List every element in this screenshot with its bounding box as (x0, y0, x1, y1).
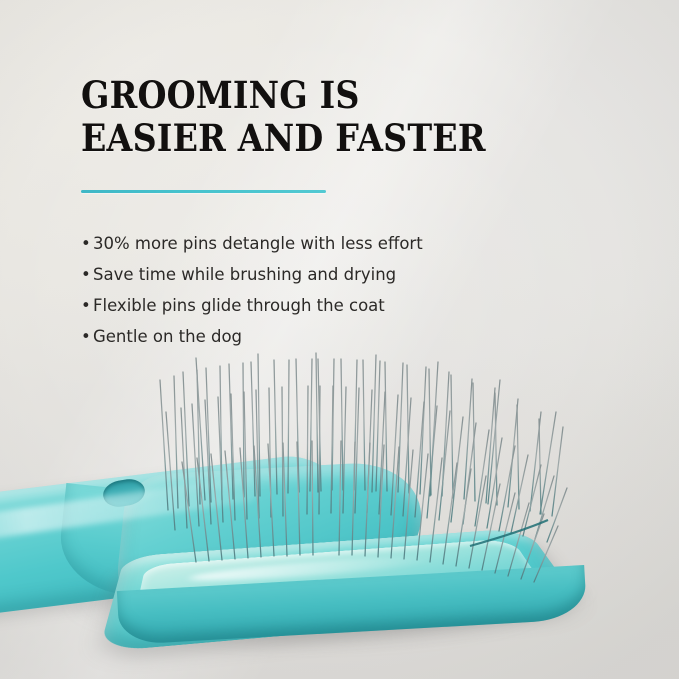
list-item: •Save time while brushing and drying (81, 259, 601, 290)
bullet-marker: • (81, 259, 93, 290)
headline-line-2: EASIER AND FASTER (81, 117, 549, 160)
product-feature-graphic: GROOMING IS EASIER AND FASTER •30% more … (0, 0, 679, 679)
bullet-marker: • (81, 228, 93, 259)
brush-pins-svg (0, 350, 679, 679)
list-item: •Gentle on the dog (81, 321, 601, 352)
headline-line-1: GROOMING IS (81, 74, 549, 117)
feature-list: •30% more pins detangle with less effort… (81, 228, 601, 352)
brush-pins (0, 350, 679, 679)
list-item-label: Gentle on the dog (93, 327, 242, 346)
bullet-marker: • (81, 321, 93, 352)
list-item: •30% more pins detangle with less effort (81, 228, 601, 259)
list-item-label: Flexible pins glide through the coat (93, 296, 385, 315)
bullet-marker: • (81, 290, 93, 321)
list-item-label: Save time while brushing and drying (93, 265, 396, 284)
page-title: GROOMING IS EASIER AND FASTER (81, 74, 549, 160)
list-item-label: 30% more pins detangle with less effort (93, 234, 423, 253)
list-item: •Flexible pins glide through the coat (81, 290, 601, 321)
accent-divider (81, 190, 326, 193)
product-image (0, 350, 679, 679)
copy-block: GROOMING IS EASIER AND FASTER (81, 74, 601, 160)
